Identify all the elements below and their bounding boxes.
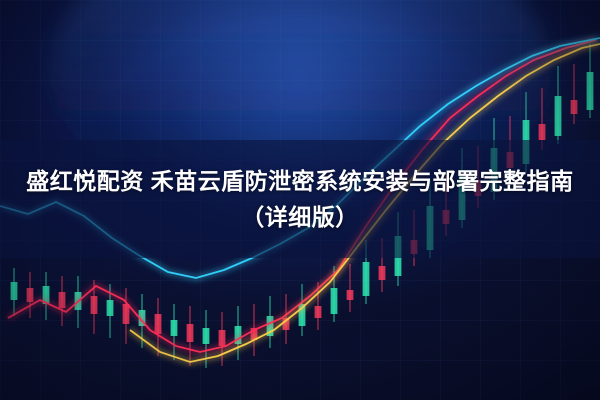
candle-body — [75, 292, 82, 310]
candle-body — [139, 310, 146, 326]
candle-body — [555, 96, 562, 136]
page-title: 盛红悦配资 禾苗云盾防泄密系统安装与部署完整指南（详细版） — [10, 163, 590, 235]
candle-body — [123, 304, 130, 324]
candle-body — [363, 262, 370, 296]
candle-body — [587, 72, 594, 110]
candle-body — [379, 266, 386, 280]
candle-body — [203, 328, 210, 344]
candle-body — [315, 306, 322, 318]
candle-body — [299, 304, 306, 326]
candle-body — [187, 324, 194, 342]
candle-body — [59, 292, 66, 308]
candle-body — [155, 314, 162, 334]
candle-body — [331, 288, 338, 314]
title-banner: 盛红悦配资 禾苗云盾防泄密系统安装与部署完整指南（详细版） — [0, 140, 600, 258]
candle-body — [347, 290, 354, 300]
candle-body — [235, 326, 242, 344]
image-canvas: 盛红悦配资 禾苗云盾防泄密系统安装与部署完整指南（详细版） — [0, 0, 600, 400]
candle-body — [171, 320, 178, 336]
candle-body — [11, 282, 18, 300]
candle-body — [219, 330, 226, 346]
candle-body — [571, 100, 578, 114]
candle-body — [91, 296, 98, 314]
candle-body — [283, 318, 290, 330]
candle-body — [107, 300, 114, 316]
candle-body — [267, 316, 274, 336]
candle-body — [251, 328, 258, 340]
candle-body — [539, 124, 546, 140]
candle-body — [27, 288, 34, 302]
candle-body — [43, 286, 50, 304]
